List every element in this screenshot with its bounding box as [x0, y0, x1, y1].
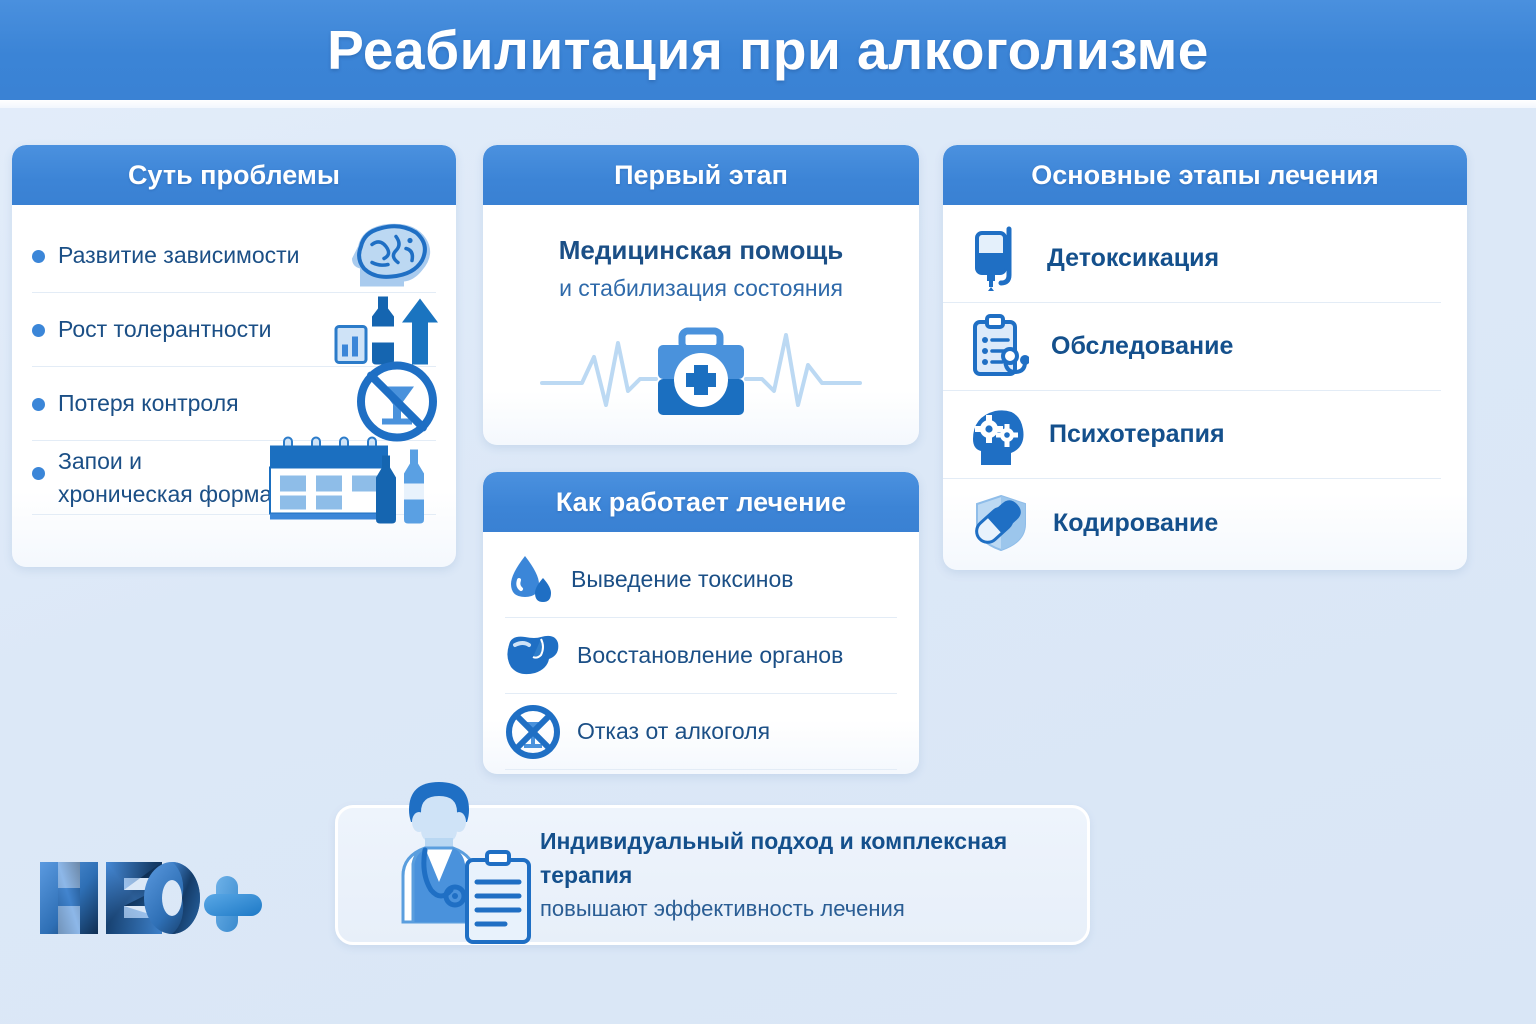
summary-banner-line2: повышают эффективность лечения: [540, 892, 1087, 926]
list-item-label: Кодирование: [1053, 509, 1218, 538]
no-drink-circle-icon: [505, 704, 561, 760]
list-item[interactable]: Детоксикация: [943, 215, 1441, 303]
list-item-label: Потеря контроля: [58, 387, 239, 420]
iv-drip-icon: [969, 225, 1025, 293]
list-item-label: Детоксикация: [1047, 244, 1219, 273]
how-it-works-list: Выведение токсинов Восстановление органо…: [483, 532, 919, 774]
brain-head-icon: [344, 218, 440, 293]
list-item-label: Рост толерантности: [58, 313, 272, 346]
list-item[interactable]: Выведение токсинов: [505, 542, 897, 618]
card-problem-title: Суть проблемы: [128, 160, 340, 191]
problem-list: Развитие зависимости Рост толерантности: [12, 205, 456, 523]
bullet-icon: [32, 467, 45, 480]
water-drop-icon: [505, 554, 555, 606]
neo-plus-logo[interactable]: [36, 856, 266, 940]
list-item[interactable]: Отказ от алкоголя: [505, 694, 897, 770]
first-stage-text: Медицинская помощь и стабилизация состоя…: [483, 205, 919, 307]
first-stage-line1: Медицинская помощь: [501, 231, 901, 269]
page-header: Реабилитация при алкоголизме: [0, 0, 1536, 100]
card-problem: Суть проблемы Развитие зависимости Рост …: [12, 145, 456, 567]
list-item-label-group: Запои и хроническая форма: [58, 445, 272, 511]
header-underline: [0, 100, 1536, 108]
card-first-stage-title: Первый этап: [614, 160, 788, 191]
list-item-label: Обследование: [1051, 332, 1233, 361]
first-stage-line2: и стабилизация состояния: [501, 269, 901, 307]
list-item-label: Выведение токсинов: [571, 566, 794, 593]
first-aid-kit-ecg-icon: [536, 313, 866, 428]
list-item-label: Отказ от алкоголя: [577, 718, 770, 745]
first-aid-kit-ecg-wrap: [483, 313, 919, 428]
card-treatment-stages-header: Основные этапы лечения: [943, 145, 1467, 205]
treatment-stages-list: Детоксикация Обследование: [943, 205, 1467, 567]
list-item[interactable]: Рост толерантности: [32, 293, 436, 367]
list-item[interactable]: Психотерапия: [943, 391, 1441, 479]
clipboard-checkup-icon: [969, 314, 1029, 380]
card-how-it-works-title: Как работает лечение: [556, 487, 846, 518]
pill-shield-icon: [969, 492, 1031, 554]
bullet-icon: [32, 324, 45, 337]
card-treatment-stages: Основные этапы лечения Детоксикация: [943, 145, 1467, 570]
head-gears-icon: [969, 403, 1027, 467]
card-first-stage-header: Первый этап: [483, 145, 919, 205]
card-how-it-works: Как работает лечение Выведение токсинов: [483, 472, 919, 774]
list-item[interactable]: Обследование: [943, 303, 1441, 391]
summary-banner-line1: Индивидуальный подход и комплексная тера…: [540, 824, 1087, 892]
summary-banner: Индивидуальный подход и комплексная тера…: [335, 805, 1090, 945]
liver-icon: [505, 633, 561, 679]
list-item-label: Восстановление органов: [577, 642, 843, 669]
page-title: Реабилитация при алкоголизме: [327, 18, 1209, 82]
card-first-stage: Первый этап Медицинская помощь и стабили…: [483, 145, 919, 445]
calendar-bottles-icon: [260, 425, 440, 530]
bullet-icon: [32, 398, 45, 411]
list-item[interactable]: Кодирование: [943, 479, 1441, 567]
list-item-label-line1: Запои и: [58, 445, 272, 478]
bullet-icon: [32, 250, 45, 263]
card-treatment-stages-title: Основные этапы лечения: [1031, 160, 1378, 191]
list-item[interactable]: Восстановление органов: [505, 618, 897, 694]
list-item-label: Развитие зависимости: [58, 239, 300, 272]
list-item-label: Психотерапия: [1049, 420, 1225, 449]
list-item[interactable]: Развитие зависимости: [32, 219, 436, 293]
list-item[interactable]: Запои и хроническая форма: [32, 441, 436, 515]
doctor-clipboard-icon: [363, 772, 541, 953]
summary-banner-text: Индивидуальный подход и комплексная тера…: [540, 824, 1087, 926]
list-item-label-line2: хроническая форма: [58, 478, 272, 511]
card-problem-header: Суть проблемы: [12, 145, 456, 205]
card-how-it-works-header: Как работает лечение: [483, 472, 919, 532]
